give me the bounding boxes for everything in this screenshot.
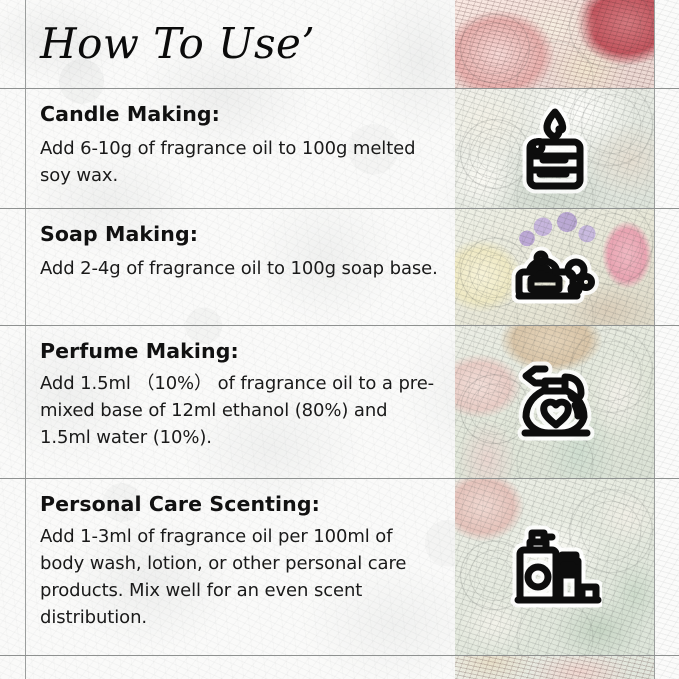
- section-heading-candle: Candle Making:: [40, 88, 455, 126]
- section-body-perfume: Add 1.5ml （10%） of fragrance oil to a pr…: [40, 363, 440, 451]
- section-body-personal: Add 1-3ml of fragrance oil per 100ml of …: [40, 516, 440, 631]
- page-title: How To Use’: [40, 23, 315, 65]
- section-heading-perfume: Perfume Making:: [40, 325, 455, 363]
- section-body-soap: Add 2-4g of fragrance oil to 100g soap b…: [40, 246, 440, 282]
- section-body-candle: Add 6-10g of fragrance oil to 100g melte…: [40, 126, 440, 189]
- right-vertical-rule: [654, 0, 655, 679]
- art-band-soap: [455, 208, 655, 325]
- section-candle-making: Candle Making: Add 6-10g of fragrance oi…: [0, 88, 455, 208]
- art-band-bottom: [455, 655, 655, 679]
- art-band-personal: [455, 478, 655, 655]
- section-personal-care-scenting: Personal Care Scenting: Add 1-3ml of fra…: [0, 478, 455, 655]
- how-to-use-infographic: How To Use’ Candle Making: Add 6-10g of …: [0, 0, 679, 679]
- art-band-perfume: [455, 325, 655, 478]
- section-heading-soap: Soap Making:: [40, 208, 455, 246]
- floral-art-column: [455, 0, 655, 679]
- section-heading-personal: Personal Care Scenting:: [40, 478, 455, 516]
- section-soap-making: Soap Making: Add 2-4g of fragrance oil t…: [0, 208, 455, 325]
- page-title-row: How To Use’: [0, 0, 455, 88]
- divider-bottom: [0, 655, 679, 656]
- art-band-candle: [455, 88, 655, 208]
- right-edge-sliver: [655, 0, 679, 679]
- section-perfume-making: Perfume Making: Add 1.5ml （10%） of fragr…: [0, 325, 455, 478]
- art-band-top: [455, 0, 655, 88]
